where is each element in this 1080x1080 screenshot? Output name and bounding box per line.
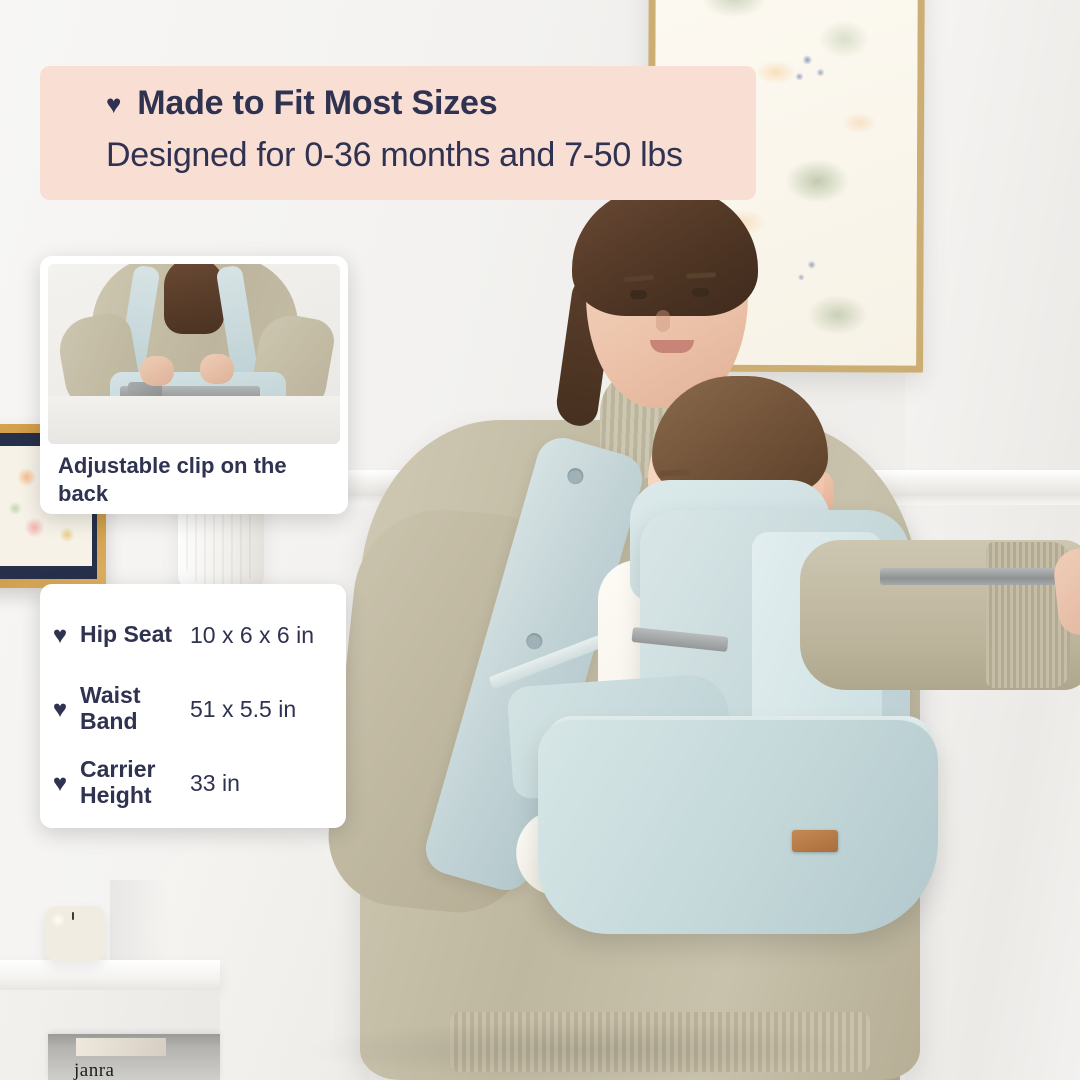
strap-snap-button — [565, 466, 585, 486]
model-nose — [656, 310, 670, 332]
spec-row-hip-seat: ♥ Hip Seat 10 x 6 x 6 in — [40, 598, 346, 672]
heart-icon: ♥ — [40, 696, 80, 722]
specification-card: ♥ Hip Seat 10 x 6 x 6 in ♥ Waist Band 51… — [40, 584, 346, 828]
feature-thumbnail — [48, 264, 340, 444]
spec-value: 10 x 6 x 6 in — [190, 622, 346, 649]
spec-label: Carrier Height — [80, 757, 190, 809]
magazine-stack: janra — [48, 1034, 220, 1080]
feature-caption: Adjustable clip on the back — [58, 452, 334, 508]
carrier-pull-strap — [880, 568, 1080, 585]
thumb-hand-right — [200, 354, 234, 384]
banner-subtitle: Designed for 0-36 months and 7-50 lbs — [106, 136, 740, 175]
mantel-shelf — [0, 960, 220, 990]
brand-leather-tag — [792, 830, 838, 852]
thumb-model-hair — [164, 264, 224, 334]
spec-label: Waist Band — [80, 683, 190, 735]
heart-icon: ♥ — [40, 622, 80, 648]
strap-snap-button — [524, 631, 544, 651]
model-eye-left — [630, 290, 647, 299]
bubble-candle — [45, 906, 105, 962]
headline-banner: ♥ Made to Fit Most Sizes Designed for 0-… — [40, 66, 756, 200]
banner-title: Made to Fit Most Sizes — [137, 84, 497, 123]
model-hair — [572, 184, 758, 316]
magazine-cover-strip — [76, 1038, 166, 1056]
spec-label: Hip Seat — [80, 622, 190, 648]
banner-title-row: ♥ Made to Fit Most Sizes — [106, 84, 736, 123]
thumb-hand-left — [140, 356, 174, 386]
model-eye-right — [692, 288, 709, 297]
model-mouth — [650, 340, 694, 353]
feature-photo-card: Adjustable clip on the back — [40, 256, 348, 514]
spec-row-carrier-height: ♥ Carrier Height 33 in — [40, 746, 346, 820]
thumb-background-wall — [48, 396, 340, 444]
magazine-title: janra — [74, 1060, 114, 1080]
product-infographic: janra — [0, 0, 1080, 1080]
heart-icon: ♥ — [40, 770, 80, 796]
spec-value: 33 in — [190, 770, 346, 797]
spec-value: 51 x 5.5 in — [190, 696, 346, 723]
hip-seat — [538, 720, 938, 934]
baby-eyebrow-right — [720, 465, 752, 472]
heart-icon: ♥ — [106, 91, 121, 117]
floor-shadow — [300, 1020, 860, 1080]
model-with-baby — [300, 180, 1080, 1080]
spec-row-waist-band: ♥ Waist Band 51 x 5.5 in — [40, 672, 346, 746]
